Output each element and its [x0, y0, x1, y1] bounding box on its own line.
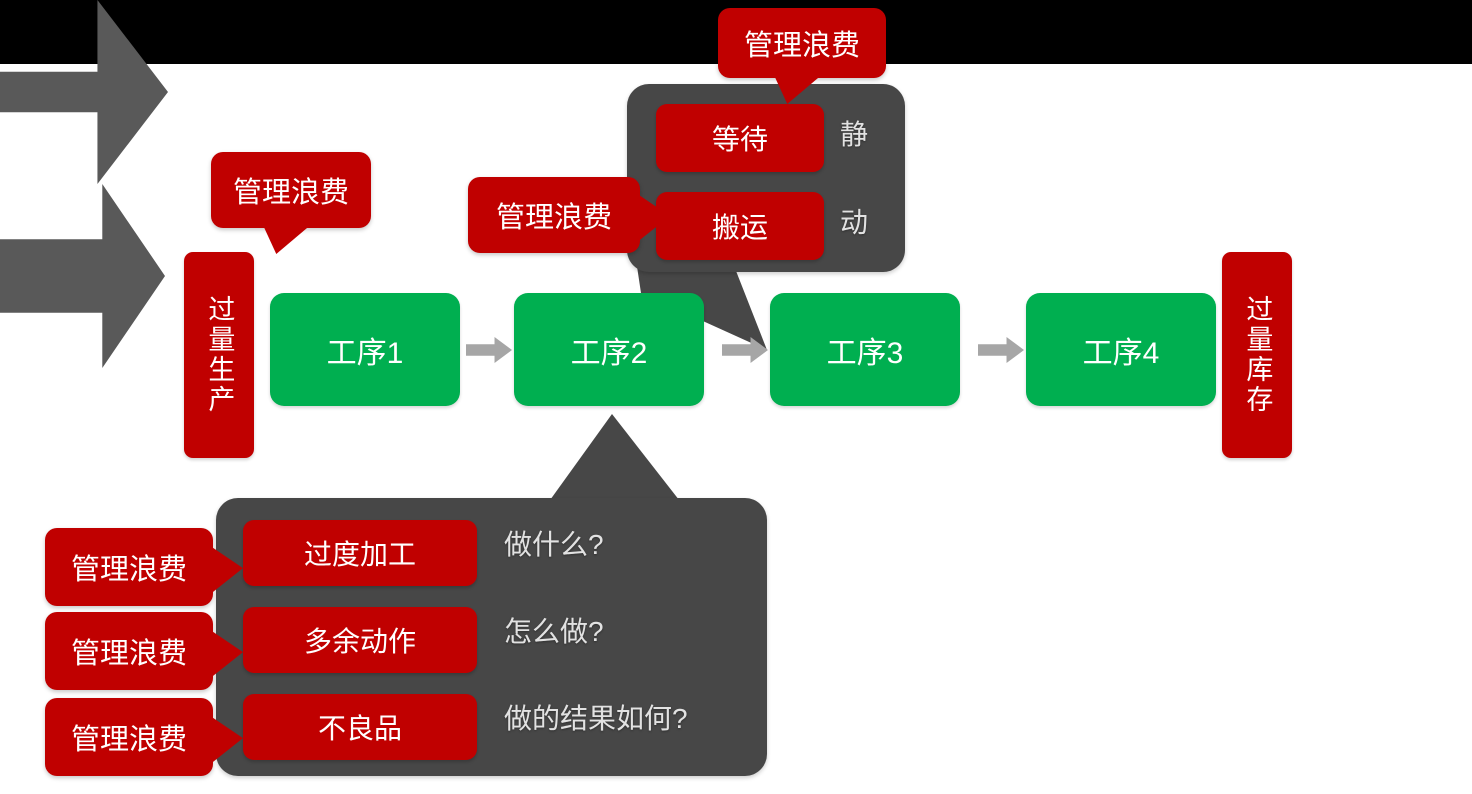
process-box-3[interactable]: 工序3	[770, 293, 960, 406]
waste-chip-motion[interactable]: 多余动作	[243, 607, 477, 673]
question-how: 怎么做?	[504, 618, 604, 646]
callout-management-waste-overproduction[interactable]: 管理浪费	[211, 152, 371, 228]
question-what: 做什么?	[504, 531, 604, 559]
callout-management-waste-overprocessing[interactable]: 管理浪费	[45, 528, 213, 606]
waste-bar-excess-inventory: 过量库存	[1222, 252, 1292, 458]
callout-label: 管理浪费	[71, 716, 187, 758]
callout-management-waste-waiting[interactable]: 管理浪费	[718, 8, 886, 78]
process-box-2[interactable]: 工序2	[514, 293, 704, 406]
waste-bar-overproduction: 过量生产	[184, 252, 254, 458]
question-result: 做的结果如何?	[504, 705, 688, 733]
callout-management-waste-transport[interactable]: 管理浪费	[468, 177, 640, 253]
waste-chip-defects[interactable]: 不良品	[243, 694, 477, 760]
callout-label: 管理浪费	[233, 169, 349, 211]
callout-label: 管理浪费	[71, 546, 187, 588]
input-label: 输入	[10, 382, 106, 412]
output-label: 产出	[4, 382, 100, 412]
waste-chip-waiting[interactable]: 等待	[656, 104, 824, 172]
callout-label: 管理浪费	[744, 22, 860, 64]
flow-connector-arrow-3	[978, 337, 1024, 363]
process-box-4[interactable]: 工序4	[1026, 293, 1216, 406]
panel-note-static: 静	[840, 121, 868, 149]
callout-management-waste-defects[interactable]: 管理浪费	[45, 698, 213, 776]
callout-tail-icon	[263, 226, 309, 254]
callout-label: 管理浪费	[496, 194, 612, 236]
output-arrow: 产出	[0, 184, 165, 368]
waste-chip-transport[interactable]: 搬运	[656, 192, 824, 260]
diagram-canvas: 输入 过量生产 工序1 工序2 工序3 工序4 过量库存 产出 等待 静 搬运 …	[0, 0, 1472, 794]
callout-management-waste-motion[interactable]: 管理浪费	[45, 612, 213, 690]
panel-note-motion: 动	[840, 209, 868, 237]
callout-label: 管理浪费	[71, 630, 187, 672]
waste-chip-overprocessing[interactable]: 过度加工	[243, 520, 477, 586]
flow-connector-arrow-1	[466, 337, 512, 363]
process-box-1[interactable]: 工序1	[270, 293, 460, 406]
